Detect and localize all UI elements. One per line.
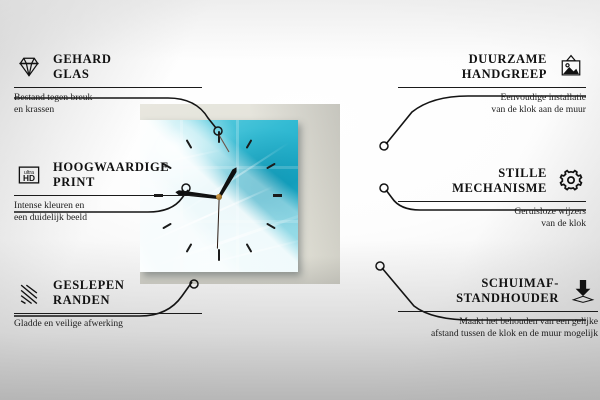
feature-desc-line2: van de klok bbox=[398, 218, 586, 231]
diamond-icon bbox=[14, 52, 44, 82]
feature-desc-line2: afstand tussen de klok en de muur mogeli… bbox=[398, 328, 598, 341]
feature-desc-line1: Geruisloze wijzers bbox=[398, 206, 586, 219]
feature-desc-line1: Bestand tegen breuk bbox=[14, 92, 202, 105]
feature-gehard-glas[interactable]: GEHARD GLAS Bestand tegen breuk en krass… bbox=[14, 52, 202, 117]
clock-tick bbox=[218, 249, 220, 261]
feature-title-line2: HANDGREEP bbox=[462, 67, 547, 82]
feature-divider bbox=[398, 311, 598, 312]
feature-divider bbox=[398, 87, 586, 88]
ultra-hd-large-text: HD bbox=[23, 173, 35, 183]
infographic-canvas: GEHARD GLAS Bestand tegen breuk en krass… bbox=[0, 0, 600, 400]
feature-title-line1: STILLE bbox=[498, 166, 547, 181]
feature-title-line2: GLAS bbox=[53, 67, 89, 82]
feature-desc-line1: Gladde en veilige afwerking bbox=[14, 318, 202, 331]
feature-stille-mechanisme[interactable]: STILLE MECHANISME Geruisloze wijzers van… bbox=[398, 166, 586, 231]
feature-title-line1: DUURZAME bbox=[469, 52, 547, 67]
feature-title-line1: GEHARD bbox=[53, 52, 111, 67]
feature-desc-line1: Eenvoudige installatie bbox=[398, 92, 586, 105]
feature-desc-line1: Maakt het behouden van een gelijke bbox=[398, 316, 598, 329]
feature-title-line2: STANDHOUDER bbox=[456, 291, 559, 306]
diagonal-lines-icon bbox=[14, 278, 44, 308]
feature-title-line1: SCHUIMAF- bbox=[481, 276, 559, 291]
feature-desc-line2: een duidelijk beeld bbox=[14, 212, 202, 225]
feature-title-line1: HOOGWAARDIGE bbox=[53, 160, 169, 175]
feature-schuimafstandhouder[interactable]: SCHUIMAF- STANDHOUDER Maakt het behouden… bbox=[398, 276, 598, 341]
gear-icon bbox=[556, 166, 586, 196]
feature-divider bbox=[398, 201, 586, 202]
clock-tick bbox=[273, 194, 282, 197]
feature-geslepen-randen[interactable]: GESLEPEN RANDEN Gladde en veilige afwerk… bbox=[14, 278, 202, 330]
feature-desc-line1: Intense kleuren en bbox=[14, 200, 202, 213]
feature-title-line2: PRINT bbox=[53, 175, 95, 190]
clock-center-pivot bbox=[216, 194, 222, 200]
feature-divider bbox=[14, 87, 202, 88]
background-top-fade bbox=[0, 0, 600, 60]
feature-divider bbox=[14, 195, 202, 196]
feature-duurzame-handgreep[interactable]: DUURZAME HANDGREEP Eenvoudige installati… bbox=[398, 52, 586, 117]
feature-desc-line2: van de klok aan de muur bbox=[398, 104, 586, 117]
clock-tick bbox=[218, 131, 220, 143]
ultra-hd-icon: ultra HD bbox=[14, 160, 44, 190]
feature-title-line2: RANDEN bbox=[53, 293, 110, 308]
feature-desc-line2: en krassen bbox=[14, 104, 202, 117]
feature-hoogwaardige-print[interactable]: ultra HD HOOGWAARDIGE PRINT Intense kleu… bbox=[14, 160, 202, 225]
press-down-arrow-icon bbox=[568, 276, 598, 306]
hanging-picture-frame-icon bbox=[556, 52, 586, 82]
feature-title-line1: GESLEPEN bbox=[53, 278, 125, 293]
feature-divider bbox=[14, 313, 202, 314]
feature-title-line2: MECHANISME bbox=[452, 181, 547, 196]
